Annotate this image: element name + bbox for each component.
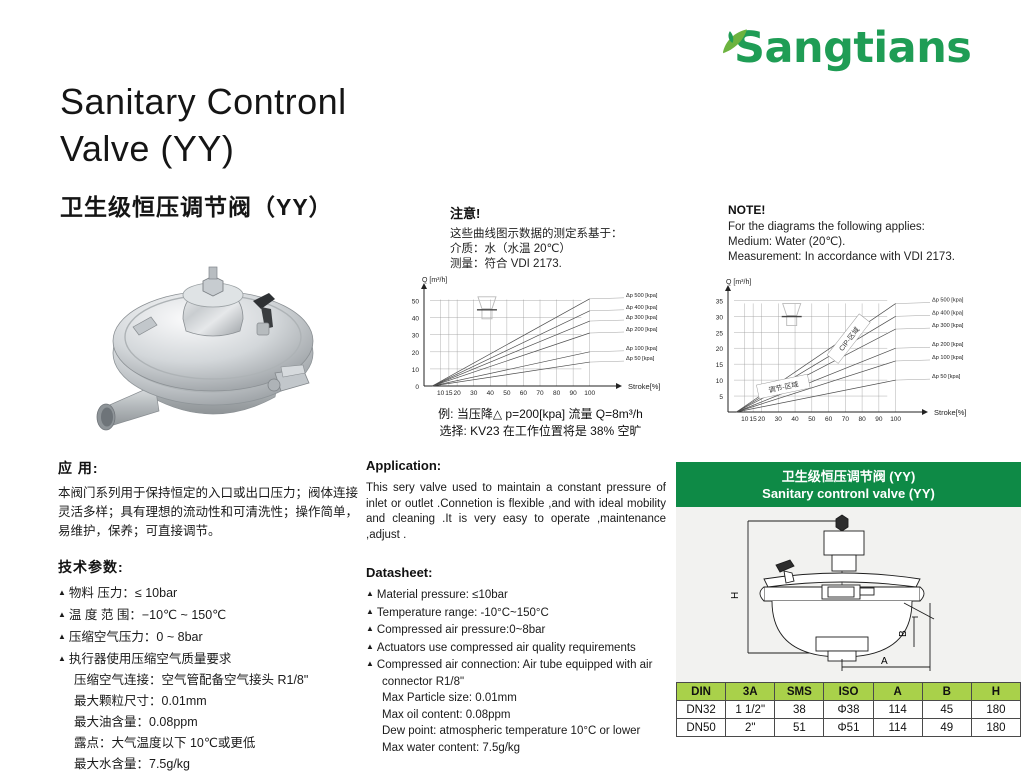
svg-text:Δp 50 [kpa]: Δp 50 [kpa]: [932, 374, 961, 380]
table-cell: DN50: [677, 719, 726, 737]
table-cell: 114: [873, 719, 922, 737]
datasheet-en-subitem: Max oil content: 0.08ppm: [366, 707, 666, 724]
svg-text:40: 40: [412, 316, 420, 323]
svg-text:50: 50: [412, 299, 420, 306]
datasheet-cn-subitem: 露点：大气温度以下 10℃或更低: [58, 733, 358, 754]
svg-text:20: 20: [412, 350, 420, 357]
datasheet-en-item: ▲Temperature range: -10°C~150°C: [366, 604, 666, 622]
datasheet-en-item: ▲Compressed air pressure:0~8bar: [366, 621, 666, 639]
svg-text:40: 40: [487, 390, 495, 397]
table-cell: 1 1/2": [726, 701, 775, 719]
table-col-header: B: [922, 683, 971, 701]
svg-text:20: 20: [758, 416, 766, 423]
leaf-icon: [718, 26, 752, 60]
svg-text:Δp 400 [kpa]: Δp 400 [kpa]: [932, 310, 964, 316]
svg-text:20: 20: [716, 346, 724, 353]
note-cn-line: 测量：符合 VDI 2173.: [450, 257, 690, 272]
bullet-triangle-icon: ▲: [58, 588, 66, 597]
svg-text:15: 15: [445, 390, 453, 397]
svg-text:Q [m³/h]: Q [m³/h]: [422, 277, 447, 284]
datasheet-en-subitem: Dew point: atmospheric temperature 10°C …: [366, 723, 666, 740]
bullet-triangle-icon: ▲: [366, 624, 374, 633]
datasheet-en-item: ▲Compressed air connection: Air tube equ…: [366, 656, 666, 674]
bullet-triangle-icon: ▲: [366, 589, 374, 598]
application-en-body: This sery valve used to maintain a const…: [366, 481, 666, 543]
caption-line: 例: 当压降△ p=200[kpa] 流量 Q=8m³/h: [398, 406, 683, 423]
valve-technical-drawing: H A B: [676, 507, 1021, 682]
table-header-row: DIN 3A SMS ISO A B H: [677, 683, 1021, 701]
table-row: DN50 2" 51 Φ51 114 49 180: [677, 719, 1021, 737]
table-cell: DN32: [677, 701, 726, 719]
svg-text:Δp 50 [kpa]: Δp 50 [kpa]: [626, 356, 655, 362]
svg-text:100: 100: [584, 390, 595, 397]
bullet-triangle-icon: ▲: [366, 642, 374, 651]
datasheet-cn-subitem: 最大颗粒尺寸：0.01mm: [58, 691, 358, 712]
svg-text:Stroke[%]: Stroke[%]: [628, 382, 661, 391]
svg-text:10: 10: [741, 416, 749, 423]
page-title: Sanitary Contronl Valve (YY): [60, 78, 480, 172]
caption-line: 选择: KV23 在工作位置将是 38% 空旷: [398, 423, 683, 440]
svg-text:35: 35: [716, 298, 724, 305]
table-cell: 114: [873, 701, 922, 719]
table-col-header: 3A: [726, 683, 775, 701]
datasheet-cn-heading: 技术参数:: [58, 557, 358, 577]
table-col-header: H: [971, 683, 1020, 701]
brand-logo: Sangtians: [700, 18, 990, 78]
table-cell: 2": [726, 719, 775, 737]
svg-text:30: 30: [470, 390, 478, 397]
dimension-table: DIN 3A SMS ISO A B H DN32 1 1/2" 38 Φ38 …: [676, 682, 1021, 737]
table-cell: 51: [775, 719, 824, 737]
table-row: DN32 1 1/2" 38 Φ38 114 45 180: [677, 701, 1021, 719]
svg-text:Δp 500 [kpa]: Δp 500 [kpa]: [626, 293, 658, 299]
svg-text:20: 20: [454, 390, 462, 397]
svg-text:10: 10: [716, 378, 724, 385]
table-cell: 49: [922, 719, 971, 737]
english-text-column: Application: This sery valve used to mai…: [366, 458, 666, 756]
note-en-line: Medium: Water (20℃).: [728, 235, 978, 250]
svg-text:100: 100: [890, 416, 901, 423]
chart-flow-vs-stroke-right: 510152025303510152030405060708090100Q [m…: [700, 276, 990, 434]
datasheet-en-item: ▲Actuators use compressed air quality re…: [366, 639, 666, 657]
note-en-line: For the diagrams the following applies:: [728, 220, 978, 235]
svg-text:80: 80: [858, 416, 866, 423]
svg-text:60: 60: [825, 416, 833, 423]
datasheet-cn-item: ▲温 度 范 围：−10℃ ~ 150℃: [58, 604, 358, 626]
svg-text:60: 60: [520, 390, 528, 397]
table-cell: 45: [922, 701, 971, 719]
svg-text:10: 10: [437, 390, 445, 397]
dimension-label-h: H: [730, 592, 741, 599]
svg-text:30: 30: [775, 416, 783, 423]
bullet-triangle-icon: ▲: [58, 654, 66, 663]
table-cell: 180: [971, 719, 1020, 737]
datasheet-cn-item: ▲压缩空气压力：0 ~ 8bar: [58, 626, 358, 648]
svg-text:30: 30: [412, 333, 420, 340]
svg-text:Δp 200 [kpa]: Δp 200 [kpa]: [626, 327, 658, 333]
title-line-2: Valve (YY): [60, 125, 480, 172]
note-en-heading: NOTE!: [728, 203, 978, 217]
chart-left-caption: 例: 当压降△ p=200[kpa] 流量 Q=8m³/h 选择: KV23 在…: [398, 406, 683, 440]
datasheet-en-item: ▲Material pressure: ≤10bar: [366, 586, 666, 604]
table-cell: Φ38: [824, 701, 873, 719]
svg-text:Stroke[%]: Stroke[%]: [934, 408, 967, 417]
svg-text:Q [m³/h]: Q [m³/h]: [726, 279, 751, 286]
datasheet-en-subitem: connector R1/8": [366, 674, 666, 691]
datasheet-cn-item: ▲执行器使用压缩空气质量要求: [58, 648, 358, 670]
svg-text:90: 90: [570, 390, 578, 397]
svg-text:Δp 100 [kpa]: Δp 100 [kpa]: [626, 346, 658, 352]
panel-header: 卫生级恒压调节阀 (YY) Sanitary contronl valve (Y…: [676, 462, 1021, 507]
svg-text:70: 70: [536, 390, 544, 397]
note-cn-heading: 注意!: [450, 203, 690, 222]
svg-text:Δp 300 [kpa]: Δp 300 [kpa]: [626, 315, 658, 321]
chinese-text-column: 应 用: 本阀门系列用于保持恒定的入口或出口压力；阀体连接灵活多样；具有理想的流…: [58, 458, 358, 775]
panel-title-en: Sanitary contronl valve (YY): [676, 485, 1021, 503]
svg-text:15: 15: [716, 362, 724, 369]
datasheet-cn-subitem: 最大水含量：7.5g/kg: [58, 754, 358, 775]
svg-text:10: 10: [412, 367, 420, 374]
datasheet-cn-item: ▲物料 压力：≤ 10bar: [58, 582, 358, 604]
bullet-triangle-icon: ▲: [366, 607, 374, 616]
title-line-1: Sanitary Contronl: [60, 78, 480, 125]
svg-text:70: 70: [842, 416, 850, 423]
svg-text:Δp 400 [kpa]: Δp 400 [kpa]: [626, 305, 658, 311]
svg-text:Δp 100 [kpa]: Δp 100 [kpa]: [932, 355, 964, 361]
svg-text:5: 5: [719, 394, 723, 401]
bullet-triangle-icon: ▲: [366, 659, 374, 668]
dimension-label-b: B: [898, 630, 909, 637]
svg-text:15: 15: [750, 416, 758, 423]
panel-title-cn: 卫生级恒压调节阀 (YY): [676, 468, 1021, 485]
datasheet-cn-subitem: 压缩空气连接：空气管配备空气接头 R1/8": [58, 670, 358, 691]
application-en-heading: Application:: [366, 458, 666, 473]
datasheet-en-subitem: Max water content: 7.5g/kg: [366, 740, 666, 757]
svg-text:40: 40: [791, 416, 799, 423]
bullet-triangle-icon: ▲: [58, 610, 66, 619]
svg-text:30: 30: [716, 314, 724, 321]
svg-text:80: 80: [553, 390, 561, 397]
svg-text:Δp 300 [kpa]: Δp 300 [kpa]: [932, 323, 964, 329]
product-photo: [85, 245, 340, 445]
table-cell: 180: [971, 701, 1020, 719]
svg-text:Δp 500 [kpa]: Δp 500 [kpa]: [932, 298, 964, 304]
svg-text:0: 0: [415, 384, 419, 391]
table-col-header: DIN: [677, 683, 726, 701]
dimension-panel: 卫生级恒压调节阀 (YY) Sanitary contronl valve (Y…: [676, 462, 1021, 734]
datasheet-en-heading: Datasheet:: [366, 565, 666, 580]
note-en-line: Measurement: In accordance with VDI 2173…: [728, 250, 978, 265]
datasheet-en-subitem: Max Particle size: 0.01mm: [366, 690, 666, 707]
note-cn-line: 这些曲线图示数据的测定系基于：: [450, 227, 690, 242]
note-english: NOTE! For the diagrams the following app…: [728, 203, 978, 265]
svg-text:50: 50: [503, 390, 511, 397]
application-cn-heading: 应 用:: [58, 458, 358, 478]
table-col-header: A: [873, 683, 922, 701]
svg-text:50: 50: [808, 416, 816, 423]
table-col-header: SMS: [775, 683, 824, 701]
dimension-label-a: A: [881, 656, 888, 667]
note-cn-line: 介质：水（水温 20℃）: [450, 242, 690, 257]
table-cell: Φ51: [824, 719, 873, 737]
svg-text:Δp 200 [kpa]: Δp 200 [kpa]: [932, 342, 964, 348]
table-cell: 38: [775, 701, 824, 719]
datasheet-cn-subitem: 最大油含量：0.08ppm: [58, 712, 358, 733]
svg-text:90: 90: [875, 416, 883, 423]
note-chinese: 注意! 这些曲线图示数据的测定系基于： 介质：水（水温 20℃） 测量：符合 V…: [450, 203, 690, 272]
svg-text:25: 25: [716, 330, 724, 337]
bullet-triangle-icon: ▲: [58, 632, 66, 641]
page-title-cn: 卫生级恒压调节阀（YY）: [60, 188, 480, 222]
chart-flow-vs-stroke-left: 0102030405010152030405060708090100Q [m³/…: [400, 276, 680, 404]
application-cn-body: 本阀门系列用于保持恒定的入口或出口压力；阀体连接灵活多样；具有理想的流动性和可清…: [58, 484, 358, 541]
table-col-header: ISO: [824, 683, 873, 701]
